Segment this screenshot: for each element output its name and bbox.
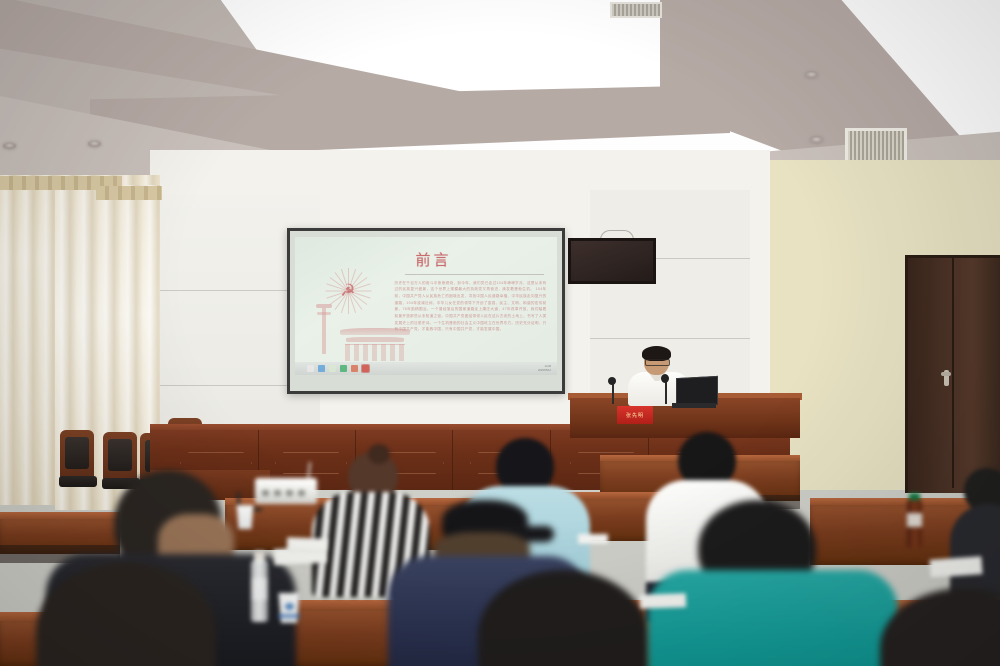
attendee-jacket xyxy=(950,504,1000,599)
microphone-icon-secondary xyxy=(608,377,616,385)
door-center-seam xyxy=(952,258,954,488)
attendee-front-far-right xyxy=(880,588,1000,666)
wall-monitor-screen xyxy=(571,241,653,281)
air-vent-grille-top xyxy=(610,2,662,18)
presentation-slide: ☭ 前言 历史在千百万人的奋斗中熊熊燃烧，到今年，我们党已走过104年峥嵘岁月，… xyxy=(295,237,557,375)
wall-monitor[interactable] xyxy=(568,238,656,284)
emblem-glyph: ☭ xyxy=(337,280,359,302)
handout-paper[interactable] xyxy=(578,534,608,544)
slide-title: 前言 xyxy=(416,249,452,270)
paper-cup-logo xyxy=(285,603,294,610)
windows-taskbar[interactable]: 14:28 2025/05/12 xyxy=(295,362,557,375)
downlight-icon xyxy=(3,143,16,149)
attendee-hair-bun xyxy=(368,444,390,464)
handout-paper[interactable] xyxy=(640,593,686,609)
paper-cup-band xyxy=(278,614,300,618)
glasses-icon xyxy=(645,359,670,366)
handout-paper[interactable] xyxy=(287,537,327,550)
powerpoint-icon[interactable] xyxy=(362,365,369,372)
attendee-front-lower xyxy=(36,562,216,666)
laptop-base[interactable] xyxy=(672,403,716,408)
curtain-header-right xyxy=(96,186,162,200)
attendee-hair xyxy=(36,562,216,666)
browser-icon[interactable] xyxy=(351,365,358,372)
huabiao-column-illustration xyxy=(316,300,332,354)
mail-icon[interactable] xyxy=(329,365,336,372)
name-plate-text: 张先明 xyxy=(626,412,644,419)
door-handle-plate[interactable] xyxy=(941,372,951,376)
downlight-icon xyxy=(805,72,818,78)
tea-bottle-label xyxy=(907,513,922,527)
taskbar-icon-group[interactable] xyxy=(307,365,369,372)
downlight-icon xyxy=(810,137,823,143)
air-vent-grille xyxy=(845,128,907,164)
explorer-icon[interactable] xyxy=(318,365,325,372)
handout-paper[interactable] xyxy=(929,556,982,578)
clock-date: 2025/05/12 xyxy=(538,369,551,373)
microphone-stand-secondary xyxy=(612,382,614,404)
microphone-icon xyxy=(661,374,669,383)
name-plate: 张先明 xyxy=(617,406,653,424)
downlight-icon xyxy=(88,141,101,147)
projection-screen-surface: ☭ 前言 历史在千百万人的奋斗中熊熊燃烧，到今年，我们党已走过104年峥嵘岁月，… xyxy=(290,231,562,391)
slide-title-rule xyxy=(405,274,544,275)
water-bottle-label xyxy=(251,578,268,600)
attendee-teal-shirt xyxy=(648,570,898,666)
attendee-front-center-lower xyxy=(478,570,648,666)
attendee-hair xyxy=(880,588,1000,666)
projection-screen: ☭ 前言 历史在千百万人的奋斗中熊熊燃烧，到今年，我们党已走过104年峥嵘岁月，… xyxy=(287,228,565,394)
wechat-icon[interactable] xyxy=(340,365,347,372)
slide-body-text: 历史在千百万人的奋斗中熊熊燃烧，到今年，我们党已走过104年峥嵘岁月，这是从未有… xyxy=(395,280,547,333)
taskbar-clock[interactable]: 14:28 2025/05/12 xyxy=(538,365,551,372)
attendee-hair xyxy=(478,570,648,666)
microphone-stand xyxy=(665,380,667,404)
windows-start-icon[interactable] xyxy=(307,365,314,372)
conference-room-photo: ☭ 前言 历史在千百万人的奋斗中熊熊燃烧，到今年，我们党已走过104年峥嵘岁月，… xyxy=(0,0,1000,666)
attendee-teal-tee xyxy=(658,500,888,666)
